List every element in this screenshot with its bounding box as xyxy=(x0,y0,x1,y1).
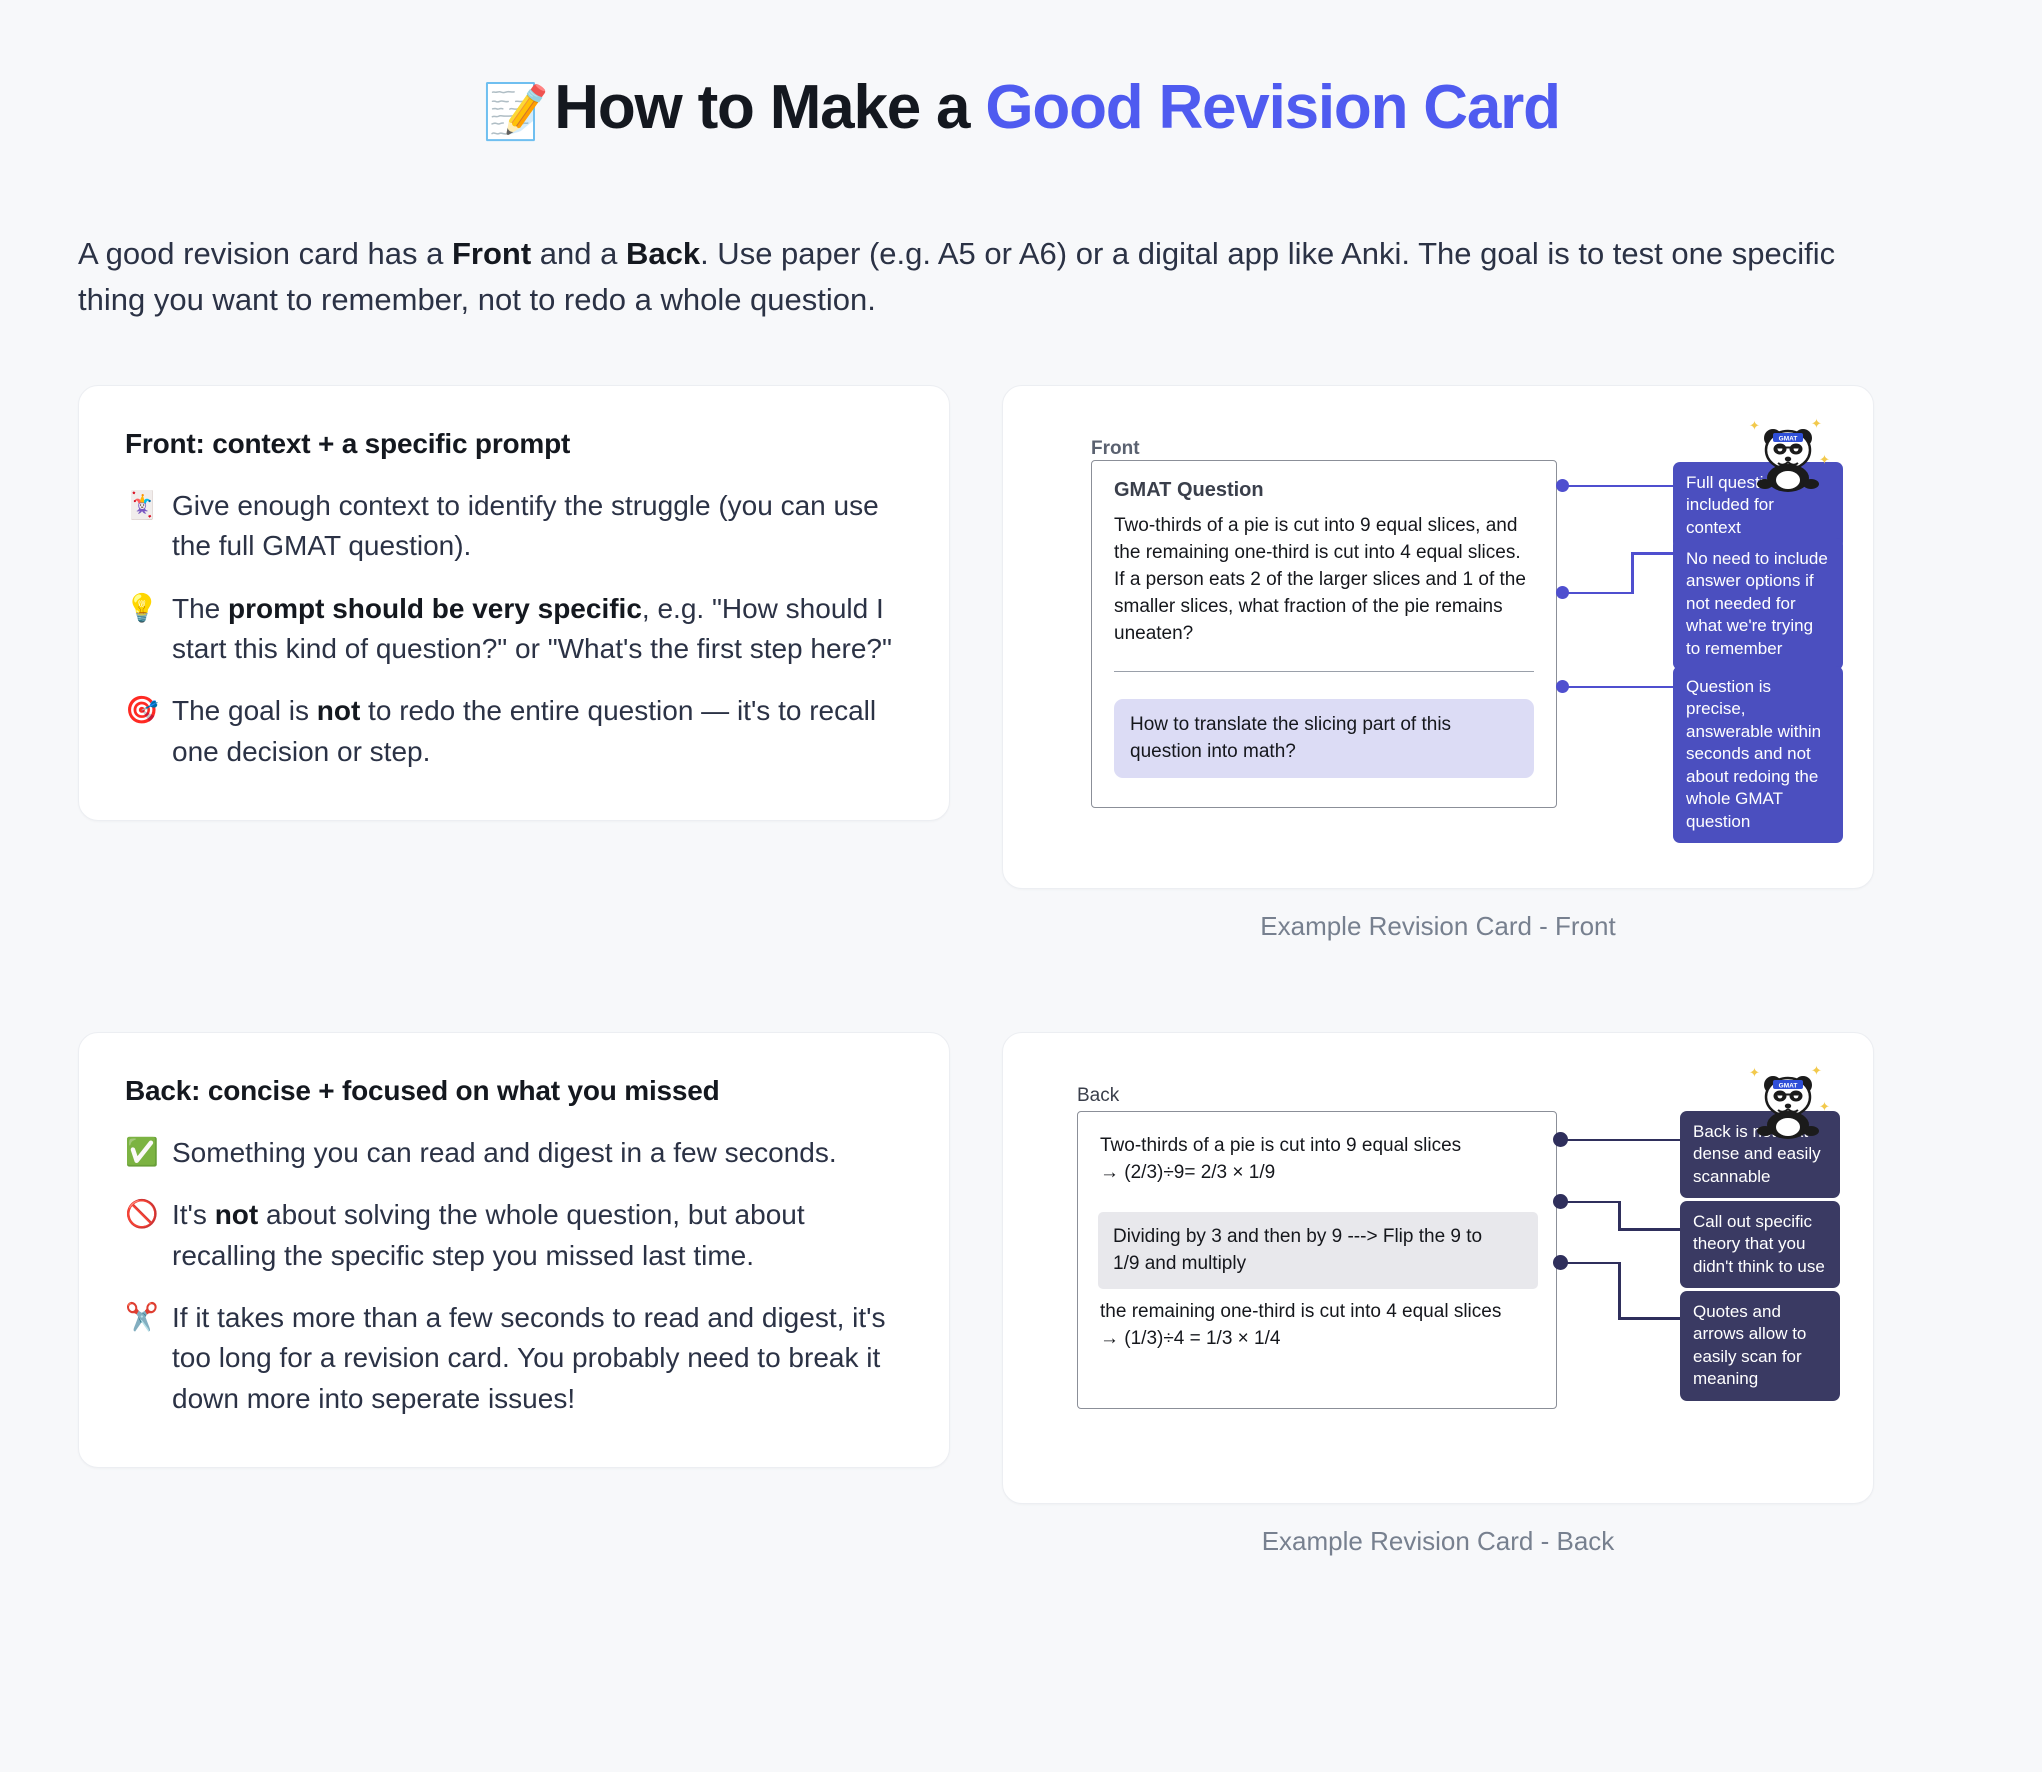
back-line-1: Two-thirds of a pie is cut into 9 equal … xyxy=(1100,1132,1530,1187)
text-segment: The goal is xyxy=(172,695,317,726)
back-line-3-b: → (1/3)÷4 = 1/3 × 1/4 xyxy=(1100,1328,1280,1349)
back-info-heading: Back: concise + focused on what you miss… xyxy=(125,1075,903,1107)
front-prompt-chip: How to translate the slicing part of thi… xyxy=(1114,699,1534,778)
connector-line xyxy=(1560,1139,1680,1142)
back-slide-label: Back xyxy=(1077,1085,1119,1107)
list-item-text: Something you can read and digest in a f… xyxy=(172,1133,903,1173)
connector-line xyxy=(1563,686,1673,689)
page-title-accent: Good Revision Card xyxy=(985,73,1559,142)
front-example-caption: Example Revision Card - Front xyxy=(1002,911,1874,942)
memo-pencil-icon: 📝 xyxy=(482,82,548,142)
connector-line xyxy=(1618,1228,1680,1231)
list-item-text: Give enough context to identify the stru… xyxy=(172,486,903,567)
connector-line xyxy=(1560,1262,1620,1265)
list-item: 🃏 Give enough context to identify the st… xyxy=(125,486,903,567)
connector-line xyxy=(1618,1317,1680,1320)
text-segment: Something you can read and digest in a f… xyxy=(172,1137,837,1168)
list-item: 🚫 It's not about solving the whole quest… xyxy=(125,1195,903,1276)
front-slide-label: Front xyxy=(1091,438,1140,460)
list-item-text: It's not about solving the whole questio… xyxy=(172,1195,903,1276)
back-example-caption: Example Revision Card - Back xyxy=(1002,1526,1874,1557)
intro-part-2: and a xyxy=(531,236,626,271)
list-item: ✂️ If it takes more than a few seconds t… xyxy=(125,1298,903,1419)
front-question-title: GMAT Question xyxy=(1114,479,1264,502)
gmat-panda-mascot-icon: ✦ ✦ ✦ GMAT xyxy=(1745,1063,1831,1149)
front-info-column: Front: context + a specific prompt 🃏 Giv… xyxy=(78,385,950,821)
text-segment: If it takes more than a few seconds to r… xyxy=(172,1302,886,1414)
scissors-icon: ✂️ xyxy=(125,1298,155,1419)
connector-line xyxy=(1560,1201,1620,1204)
text-segment-bold: prompt should be very specific xyxy=(228,593,642,624)
page-root: 📝How to Make a Good Revision Card A good… xyxy=(0,0,2042,1772)
back-example-column: Back Two-thirds of a pie is cut into 9 e… xyxy=(1002,1032,1874,1557)
text-segment: Give enough context to identify the stru… xyxy=(172,490,879,561)
front-row: Front: context + a specific prompt 🃏 Giv… xyxy=(78,385,1964,942)
front-example-card: Front GMAT Question Two-thirds of a pie … xyxy=(1002,385,1874,889)
back-line-2-a: Dividing by 3 and then by 9 ---> Flip th… xyxy=(1113,1226,1482,1247)
front-callout-3: Question is precise, answerable within s… xyxy=(1673,666,1843,843)
list-item: ✅ Something you can read and digest in a… xyxy=(125,1133,903,1173)
list-item: 💡 The prompt should be very specific, e.… xyxy=(125,589,903,670)
check-mark-icon: ✅ xyxy=(125,1133,155,1173)
back-callout-3: Quotes and arrows allow to easily scan f… xyxy=(1680,1291,1840,1401)
back-slide: Back Two-thirds of a pie is cut into 9 e… xyxy=(1029,1059,1847,1477)
svg-text:GMAT: GMAT xyxy=(1779,1083,1798,1090)
front-question-body: Two-thirds of a pie is cut into 9 equal … xyxy=(1114,513,1534,648)
back-info-card: Back: concise + focused on what you miss… xyxy=(78,1032,950,1468)
prohibited-icon: 🚫 xyxy=(125,1195,155,1276)
back-example-card: Back Two-thirds of a pie is cut into 9 e… xyxy=(1002,1032,1874,1504)
front-card-divider xyxy=(1114,671,1534,672)
front-info-card: Front: context + a specific prompt 🃏 Giv… xyxy=(78,385,950,821)
lightbulb-icon: 💡 xyxy=(125,589,155,670)
intro-part-1: A good revision card has a xyxy=(78,236,452,271)
gmat-panda-mascot-icon: ✦ ✦ ✦ GMAT xyxy=(1745,416,1831,502)
back-row: Back: concise + focused on what you miss… xyxy=(78,1032,1964,1557)
back-info-column: Back: concise + focused on what you miss… xyxy=(78,1032,950,1468)
back-line-1-b: → (2/3)÷9= 2/3 × 1/9 xyxy=(1100,1162,1275,1183)
front-example-column: Front GMAT Question Two-thirds of a pie … xyxy=(1002,385,1874,942)
text-segment: It's xyxy=(172,1199,215,1230)
connector-line xyxy=(1631,552,1634,594)
front-info-heading: Front: context + a specific prompt xyxy=(125,428,903,460)
svg-text:GMAT: GMAT xyxy=(1779,436,1798,443)
list-item-text: If it takes more than a few seconds to r… xyxy=(172,1298,903,1419)
connector-line xyxy=(1631,552,1673,555)
target-icon: 🎯 xyxy=(125,691,155,772)
text-segment-bold: not xyxy=(215,1199,259,1230)
front-callout-2: No need to include answer options if not… xyxy=(1673,538,1843,670)
list-item-text: The goal is not to redo the entire quest… xyxy=(172,691,903,772)
joker-card-icon: 🃏 xyxy=(125,486,155,567)
connector-line xyxy=(1563,485,1673,488)
connector-line xyxy=(1618,1262,1621,1320)
page-title: 📝How to Make a Good Revision Card xyxy=(78,0,1964,143)
front-question-frame: GMAT Question Two-thirds of a pie is cut… xyxy=(1091,460,1557,808)
back-answer-frame: Two-thirds of a pie is cut into 9 equal … xyxy=(1077,1111,1557,1409)
back-line-3-a: the remaining one-third is cut into 4 eq… xyxy=(1100,1301,1501,1322)
list-item: 🎯 The goal is not to redo the entire que… xyxy=(125,691,903,772)
front-slide: Front GMAT Question Two-thirds of a pie … xyxy=(1029,412,1847,862)
back-line-1-a: Two-thirds of a pie is cut into 9 equal … xyxy=(1100,1135,1461,1156)
connector-line xyxy=(1563,592,1633,595)
intro-bold-back: Back xyxy=(626,236,700,271)
back-callout-2: Call out specific theory that you didn't… xyxy=(1680,1201,1840,1288)
back-line-2-b: 1/9 and multiply xyxy=(1113,1253,1246,1274)
back-line-3: the remaining one-third is cut into 4 eq… xyxy=(1100,1298,1540,1353)
back-line-2-chip: Dividing by 3 and then by 9 ---> Flip th… xyxy=(1098,1212,1538,1289)
page-title-plain: How to Make a xyxy=(554,73,985,142)
list-item-text: The prompt should be very specific, e.g.… xyxy=(172,589,903,670)
connector-line xyxy=(1618,1201,1621,1231)
intro-bold-front: Front xyxy=(452,236,531,271)
text-segment: The xyxy=(172,593,228,624)
text-segment-bold: not xyxy=(317,695,361,726)
intro-paragraph: A good revision card has a Front and a B… xyxy=(78,231,1868,323)
text-segment: about solving the whole question, but ab… xyxy=(172,1199,805,1270)
